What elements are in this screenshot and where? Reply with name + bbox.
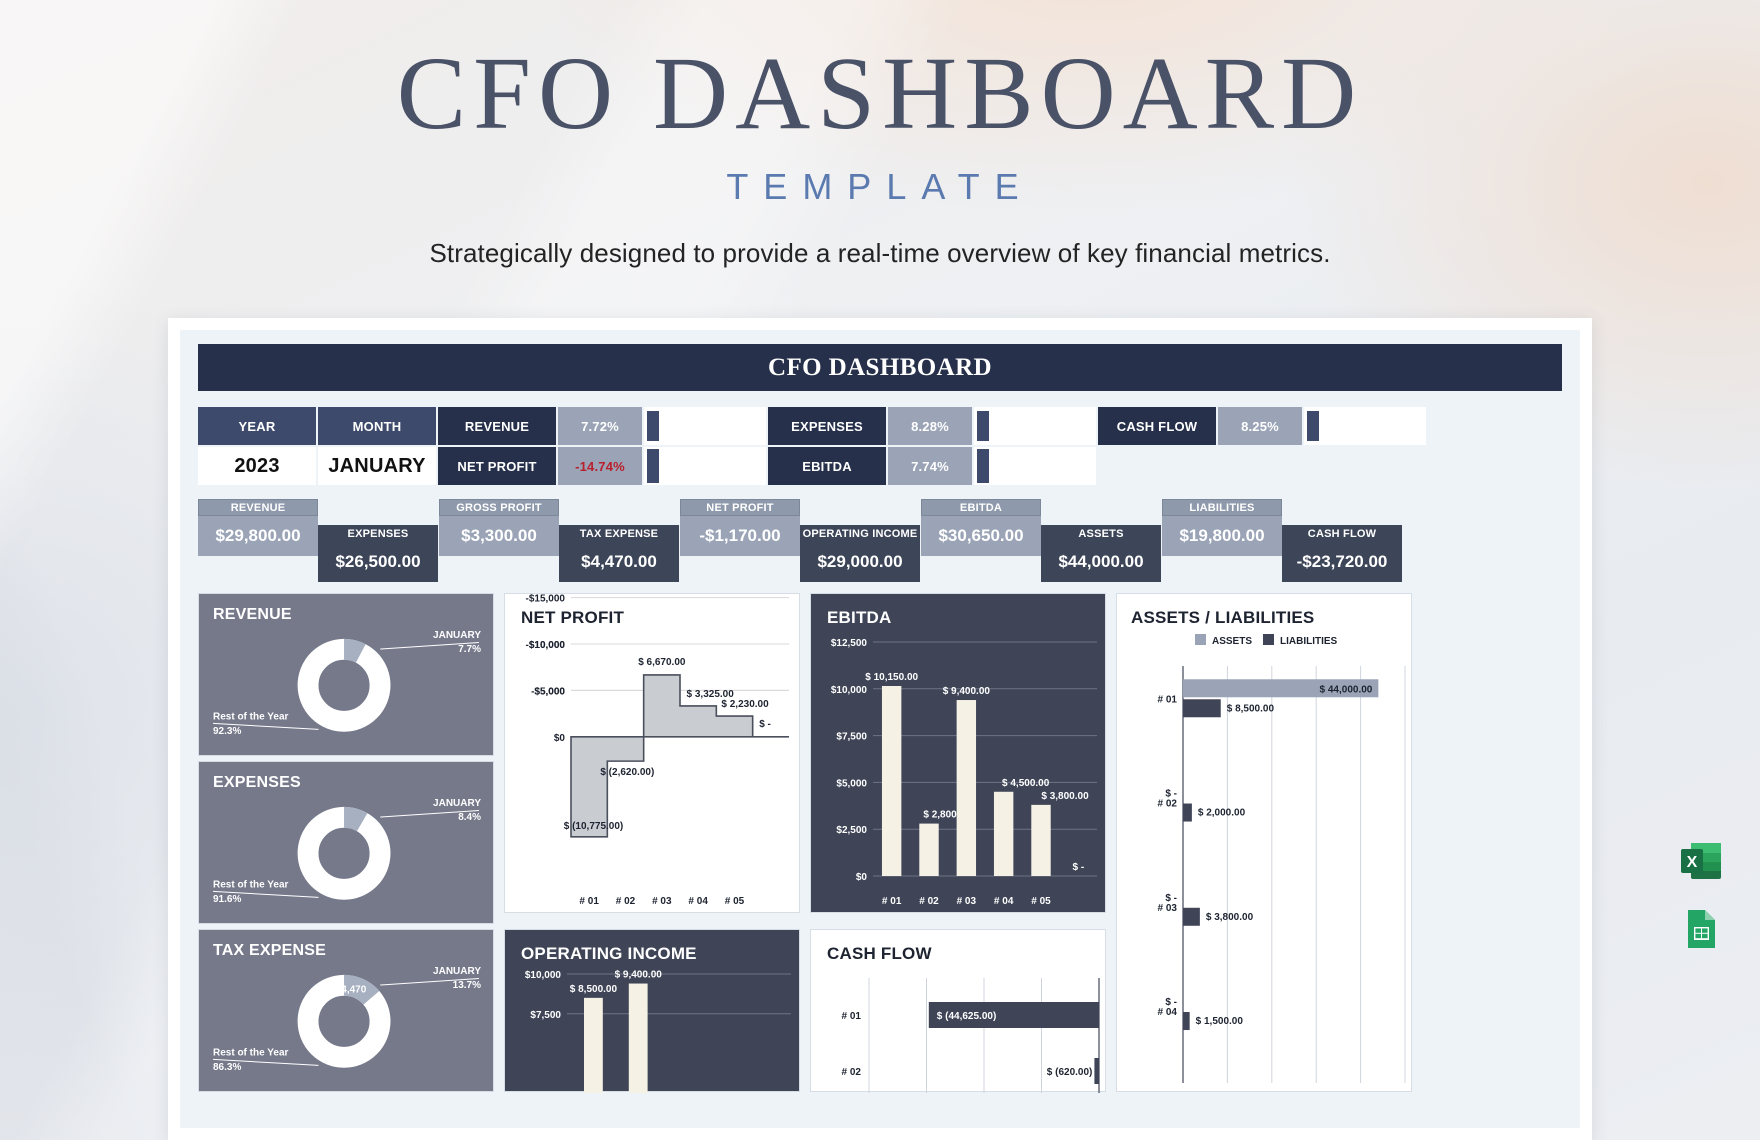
kpi-row-1: YEARMONTHREVENUE7.72%EXPENSES8.28%CASH F…	[198, 407, 1562, 445]
ebitda-spark	[974, 447, 1096, 485]
x-axis-tick: # 01	[882, 896, 902, 907]
kpi-strip: YEARMONTHREVENUE7.72%EXPENSES8.28%CASH F…	[198, 407, 1562, 485]
legend-label-assets: ASSETS	[1212, 636, 1252, 647]
bar	[1094, 1058, 1099, 1084]
sparkline-bar	[647, 411, 659, 441]
donut-value-january: 7.7%	[458, 644, 481, 655]
card-operating-income-label: OPERATING INCOME	[800, 525, 920, 542]
chart-canvas: $12,500$10,000$7,500$5,000$2,500$0$ 10,1…	[811, 594, 1107, 914]
data-label-liabilities: $ 1,500.00	[1196, 1016, 1244, 1027]
x-axis-tick: # 03	[652, 896, 672, 907]
chart-title: TAX EXPENSE	[213, 942, 326, 960]
donut-value-january: 8.4%	[458, 812, 481, 823]
netprofit-label-text: NET PROFIT	[457, 459, 536, 474]
expenses-pct-text: 8.28%	[911, 419, 949, 434]
y-axis-tick: -$15,000	[526, 594, 566, 605]
data-label-liabilities: $ 8,500.00	[1227, 703, 1275, 714]
chart-title: CASH FLOW	[827, 944, 932, 964]
chart-title: OPERATING INCOME	[521, 944, 697, 964]
donut-value-january: 13.7%	[453, 980, 481, 991]
card-tax-expense[interactable]: TAX EXPENSE$4,470.00	[559, 525, 679, 582]
y-axis-tick: $10,000	[525, 970, 562, 981]
net-profit-panel[interactable]: NET PROFIT$10,000$5,000$0-$5,000-$10,000…	[504, 593, 800, 913]
card-ebitda-value: $30,650.00	[921, 516, 1041, 556]
blank-2	[1218, 447, 1302, 485]
x-axis-tick: # 04	[994, 896, 1014, 907]
card-net-profit-label: NET PROFIT	[680, 499, 800, 516]
bar	[629, 984, 648, 1093]
month-header-text: MONTH	[353, 419, 402, 434]
card-assets[interactable]: ASSETS$44,000.00	[1041, 525, 1161, 582]
chart-title: REVENUE	[213, 606, 292, 624]
donut-label-january: JANUARY	[433, 966, 481, 977]
y-axis-tick: # 03	[1158, 903, 1178, 914]
month-value[interactable]: JANUARY	[318, 447, 436, 485]
tax-expense-donut-panel[interactable]: TAX EXPENSEJANUARY13.7%Rest of the Year8…	[198, 929, 494, 1092]
x-axis-tick: # 01	[579, 896, 599, 907]
card-net-profit-value: -$1,170.00	[680, 516, 800, 556]
month-header[interactable]: MONTH	[318, 407, 436, 445]
card-expenses[interactable]: EXPENSES$26,500.00	[318, 525, 438, 582]
blank-1	[1098, 447, 1216, 485]
y-axis-tick: $2,500	[836, 825, 867, 836]
bar	[1031, 805, 1050, 876]
chart-title: ASSETS / LIABILITIES	[1131, 608, 1314, 628]
ebitda-pct-text: 7.74%	[911, 459, 949, 474]
data-label: $ -	[759, 719, 771, 730]
netprofit-pct[interactable]: -14.74%	[558, 447, 642, 485]
x-axis-tick: # 05	[1031, 896, 1051, 907]
donut-slice-rest	[308, 817, 380, 889]
bar	[919, 824, 938, 876]
cash-flow-panel[interactable]: CASH FLOW$ (44,625.00)# 01$ (620.00)# 02	[810, 929, 1106, 1092]
y-axis-tick: $12,500	[831, 638, 868, 649]
chart-canvas: ASSETSLIABILITIES$ 44,000.00$ 8,500.00# …	[1117, 594, 1413, 1093]
cashflow-pct[interactable]: 8.25%	[1218, 407, 1302, 445]
y-axis-tick: # 02	[1158, 799, 1178, 810]
expenses-donut-panel[interactable]: EXPENSESJANUARY8.4%Rest of the Year91.6%	[198, 761, 494, 924]
card-ebitda[interactable]: EBITDA$30,650.00	[921, 499, 1041, 556]
month-value-text: JANUARY	[328, 455, 425, 478]
year-value-text: 2023	[234, 455, 279, 478]
y-axis-tick: $0	[856, 872, 868, 883]
sparkline-bar	[1307, 411, 1319, 441]
cashflow-pct-text: 8.25%	[1241, 419, 1279, 434]
card-operating-income[interactable]: OPERATING INCOME$29,000.00	[800, 525, 920, 582]
expenses-label[interactable]: EXPENSES	[768, 407, 886, 445]
donut-label-rest: Rest of the Year	[213, 712, 289, 723]
donut-label-rest: Rest of the Year	[213, 1048, 289, 1059]
card-revenue-label: REVENUE	[198, 499, 318, 516]
data-label: $ 9,400.00	[615, 970, 663, 981]
card-cash-flow-value: -$23,720.00	[1282, 542, 1402, 582]
data-label: $ 8,500.00	[570, 984, 618, 995]
y-axis-tick: -$5,000	[531, 686, 565, 697]
y-axis-tick: # 02	[842, 1067, 862, 1078]
x-axis-tick: # 05	[725, 896, 745, 907]
expenses-pct[interactable]: 8.28%	[888, 407, 972, 445]
x-axis-tick: # 03	[957, 896, 977, 907]
donut-value-rest: 86.3%	[213, 1062, 241, 1073]
legend-label-liabilities: LIABILITIES	[1280, 636, 1338, 647]
data-label-liabilities: $ 2,000.00	[1198, 808, 1246, 819]
revenue-spark	[644, 407, 766, 445]
cashflow-label-text: CASH FLOW	[1117, 419, 1198, 434]
y-axis-tick: # 04	[1158, 1007, 1178, 1018]
expenses-label-text: EXPENSES	[791, 419, 863, 434]
revenue-label-text: REVENUE	[465, 419, 529, 434]
donut-label-january: JANUARY	[433, 630, 481, 641]
revenue-label[interactable]: REVENUE	[438, 407, 556, 445]
data-label: $ -	[1072, 862, 1084, 873]
donut-value-rest: 92.3%	[213, 726, 241, 737]
bar-liabilities	[1183, 1012, 1190, 1030]
card-revenue[interactable]: REVENUE$29,800.00	[198, 499, 318, 556]
donut-label-rest: Rest of the Year	[213, 880, 289, 891]
y-axis-tick: -$10,000	[526, 640, 566, 651]
chart-canvas: $10,000$5,000$0-$5,000-$10,000-$15,000$ …	[505, 594, 801, 914]
card-assets-label: ASSETS	[1041, 525, 1161, 542]
operating-income-panel[interactable]: OPERATING INCOME$10,000$7,500$ 8,500.00$…	[504, 929, 800, 1092]
donut-slice-rest	[308, 649, 380, 721]
bar-liabilities	[1183, 804, 1192, 822]
legend-swatch-assets	[1195, 634, 1206, 645]
revenue-donut-panel[interactable]: REVENUEJANUARY7.7%Rest of the Year92.3%	[198, 593, 494, 756]
card-liabilities-label: LIABILITIES	[1162, 499, 1282, 516]
year-value[interactable]: 2023	[198, 447, 316, 485]
donut-label-january: JANUARY	[433, 798, 481, 809]
page-header: CFO DASHBOARD TEMPLATE Strategically des…	[0, 0, 1760, 269]
donut-center-label: $4,470	[336, 984, 367, 995]
sparkline-bar	[977, 411, 989, 441]
data-label: $ 3,800.00	[1041, 791, 1089, 802]
x-axis-tick: # 04	[688, 896, 708, 907]
x-axis-tick: # 02	[919, 896, 939, 907]
y-axis-tick: # 01	[1158, 694, 1178, 705]
file-format-icons: X	[1678, 838, 1724, 952]
card-expenses-label: EXPENSES	[318, 525, 438, 542]
ebitda-pct[interactable]: 7.74%	[888, 447, 972, 485]
card-expenses-value: $26,500.00	[318, 542, 438, 582]
netprofit-spark	[644, 447, 766, 485]
year-header[interactable]: YEAR	[198, 407, 316, 445]
bar-liabilities	[1183, 699, 1221, 717]
data-label: $ 10,150.00	[865, 672, 918, 683]
data-label: $ 6,670.00	[638, 657, 686, 668]
page-subtitle: TEMPLATE	[0, 166, 1760, 208]
card-revenue-value: $29,800.00	[198, 516, 318, 556]
chart-title: EXPENSES	[213, 774, 301, 792]
excel-file-icon[interactable]: X	[1678, 838, 1724, 884]
card-cash-flow-label: CASH FLOW	[1282, 525, 1402, 542]
data-label: $ 4,500.00	[1002, 778, 1050, 789]
y-axis-tick: $7,500	[836, 732, 867, 743]
card-operating-income-value: $29,000.00	[800, 542, 920, 582]
data-label: $ 9,400.00	[943, 686, 991, 697]
card-net-profit[interactable]: NET PROFIT-$1,170.00	[680, 499, 800, 556]
bar	[882, 686, 901, 876]
bar-liabilities	[1183, 908, 1200, 926]
spreadsheet-sheet: CFO DASHBOARD YEARMONTHREVENUE7.72%EXPEN…	[180, 330, 1580, 1128]
kpi-row-2: 2023JANUARYNET PROFIT-14.74%EBITDA7.74%	[198, 447, 1562, 485]
ebitda-panel[interactable]: EBITDA$12,500$10,000$7,500$5,000$2,500$0…	[810, 593, 1106, 913]
card-gross-profit-label: GROSS PROFIT	[439, 499, 559, 516]
y-axis-tick: $7,500	[530, 1010, 561, 1021]
donut-value-rest: 91.6%	[213, 894, 241, 905]
y-axis-tick: $5,000	[836, 778, 867, 789]
data-label-liabilities: $ 3,800.00	[1206, 912, 1254, 923]
assets-liabilities-panel[interactable]: ASSETS / LIABILITIESASSETSLIABILITIES$ 4…	[1116, 593, 1412, 1092]
chart-title: NET PROFIT	[521, 608, 624, 628]
card-tax-expense-value: $4,470.00	[559, 542, 679, 582]
legend-swatch-liabilities	[1263, 634, 1274, 645]
data-label: $ (10,775.00)	[564, 821, 624, 832]
sparkline-bar	[647, 449, 659, 483]
cashflow-spark	[1304, 407, 1426, 445]
data-label: $ (44,625.00)	[937, 1011, 997, 1022]
svg-text:X: X	[1687, 854, 1698, 871]
ebitda-label-text: EBITDA	[802, 459, 852, 474]
card-assets-value: $44,000.00	[1041, 542, 1161, 582]
dashboard-frame: CFO DASHBOARD YEARMONTHREVENUE7.72%EXPEN…	[168, 318, 1592, 1140]
google-sheets-file-icon[interactable]	[1678, 906, 1724, 952]
year-header-text: YEAR	[239, 419, 276, 434]
bar	[957, 700, 976, 876]
card-gross-profit[interactable]: GROSS PROFIT$3,300.00	[439, 499, 559, 556]
bar	[584, 998, 603, 1093]
dashboard-title: CFO DASHBOARD	[768, 354, 992, 382]
y-axis-tick: $0	[554, 733, 566, 744]
metric-card-row: REVENUE$29,800.00EXPENSES$26,500.00GROSS…	[198, 499, 1562, 579]
card-liabilities[interactable]: LIABILITIES$19,800.00	[1162, 499, 1282, 556]
bar	[994, 792, 1013, 876]
card-liabilities-value: $19,800.00	[1162, 516, 1282, 556]
revenue-pct-text: 7.72%	[581, 419, 619, 434]
y-axis-tick: # 01	[842, 1011, 862, 1022]
dashboard-title-bar: CFO DASHBOARD	[198, 344, 1562, 391]
page-tagline: Strategically designed to provide a real…	[0, 238, 1760, 269]
card-gross-profit-value: $3,300.00	[439, 516, 559, 556]
y-axis-tick: $10,000	[831, 685, 868, 696]
chart-title: EBITDA	[827, 608, 891, 628]
data-label: $ (2,620.00)	[600, 767, 654, 778]
ebitda-label[interactable]: EBITDA	[768, 447, 886, 485]
netprofit-label[interactable]: NET PROFIT	[438, 447, 556, 485]
page-title: CFO DASHBOARD	[0, 42, 1760, 146]
revenue-pct[interactable]: 7.72%	[558, 407, 642, 445]
data-label: $ (620.00)	[1047, 1067, 1093, 1078]
x-axis-tick: # 02	[616, 896, 636, 907]
card-cash-flow[interactable]: CASH FLOW-$23,720.00	[1282, 525, 1402, 582]
data-label: $ 2,230.00	[721, 699, 769, 710]
expenses-spark	[974, 407, 1096, 445]
cashflow-label[interactable]: CASH FLOW	[1098, 407, 1216, 445]
card-tax-expense-label: TAX EXPENSE	[559, 525, 679, 542]
data-label-assets: $ 44,000.00	[1320, 684, 1373, 695]
blank-3	[1304, 447, 1426, 485]
sparkline-bar	[977, 449, 989, 483]
netprofit-pct-text: -14.74%	[575, 459, 625, 474]
card-ebitda-label: EBITDA	[921, 499, 1041, 516]
